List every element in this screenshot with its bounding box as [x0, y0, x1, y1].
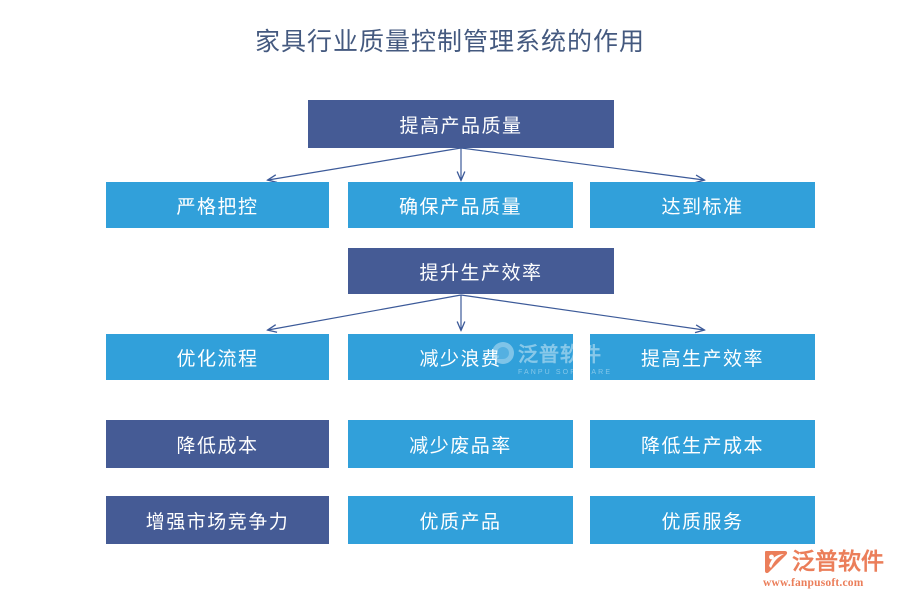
node-row-competitiveness-cell-1[interactable]: 增强市场竞争力: [106, 496, 329, 544]
node-group-efficiency-parent[interactable]: 提升生产效率: [348, 248, 614, 294]
node-row-cost-cell-3[interactable]: 降低生产成本: [590, 420, 815, 468]
node-group-efficiency-child-1[interactable]: 优化流程: [106, 334, 329, 380]
node-group-efficiency-child-3[interactable]: 提高生产效率: [590, 334, 815, 380]
brand-logo-row: 泛普软件: [762, 548, 884, 575]
brand-name: 泛普软件: [792, 550, 884, 573]
diagram-canvas: 家具行业质量控制管理系统的作用 提高产品质量 严格把控 确保产品质量 达到标准 …: [0, 0, 900, 600]
node-group-quality-child-2[interactable]: 确保产品质量: [348, 182, 573, 228]
page-title: 家具行业质量控制管理系统的作用: [0, 22, 900, 58]
brand-logo: 泛普软件 www.fanpusoft.com: [762, 548, 892, 594]
node-row-competitiveness-cell-2[interactable]: 优质产品: [348, 496, 573, 544]
node-row-competitiveness-cell-3[interactable]: 优质服务: [590, 496, 815, 544]
node-group-quality-parent[interactable]: 提高产品质量: [308, 100, 614, 148]
fanpu-brand-icon: [762, 548, 789, 575]
node-group-quality-child-3[interactable]: 达到标准: [590, 182, 815, 228]
connector-group-efficiency: [268, 295, 704, 330]
node-row-cost-cell-1[interactable]: 降低成本: [106, 420, 329, 468]
node-group-quality-child-1[interactable]: 严格把控: [106, 182, 329, 228]
brand-url: www.fanpusoft.com: [763, 577, 864, 589]
connector-group-quality: [268, 148, 704, 180]
node-row-cost-cell-2[interactable]: 减少废品率: [348, 420, 573, 468]
node-group-efficiency-child-2[interactable]: 减少浪费: [348, 334, 573, 380]
